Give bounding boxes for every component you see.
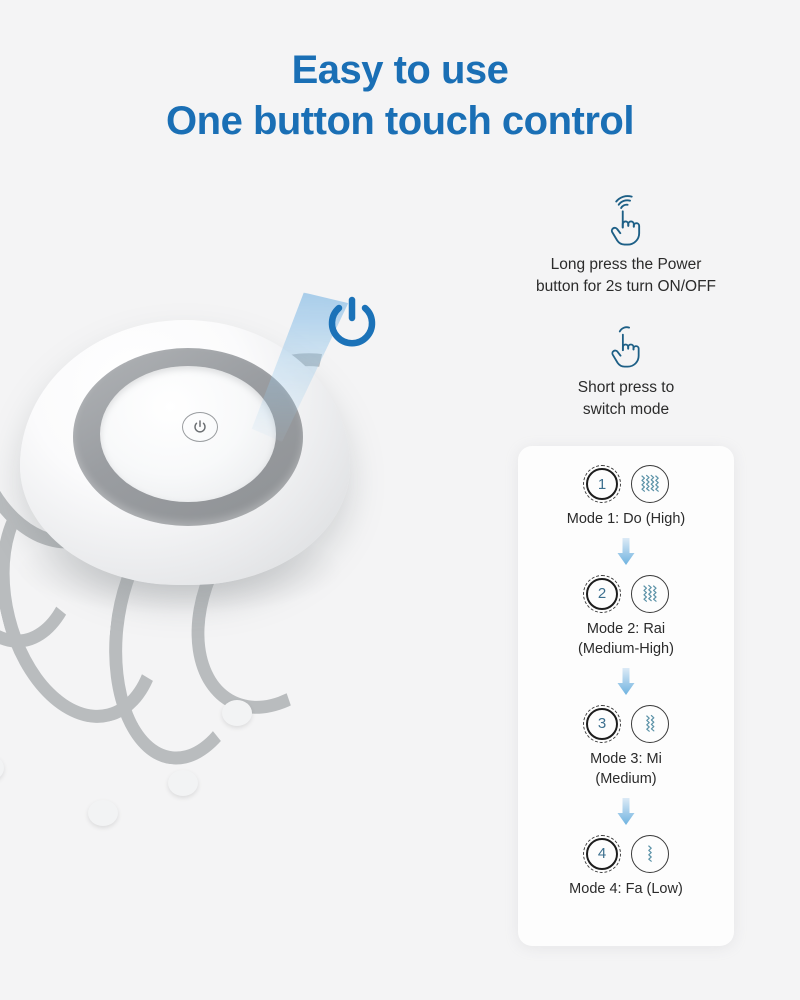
hand-short-press-icon [500, 315, 752, 373]
instruction-line1: Short press to [578, 379, 675, 396]
device-leg-tip [88, 800, 118, 826]
product-image [0, 300, 440, 900]
instruction-line2: button for 2s turn ON/OFF [536, 278, 716, 295]
mode-sequence-card: 1 Mode 1: Do (High) [518, 446, 734, 946]
mode-number: 3 [598, 715, 606, 732]
mode-item-3[interactable]: 3 Mode 3: Mi (Medium) [518, 702, 734, 790]
mode-item-4[interactable]: 4 Mode 4: Fa (Low) [518, 832, 734, 900]
instruction-text: Short press to switch mode [500, 377, 752, 422]
mode-number-icon: 3 [583, 705, 621, 743]
mode-label-line1: Mode 3: Mi [590, 751, 662, 767]
page-title-line1: Easy to use [0, 48, 800, 93]
vibration-intensity-icon [631, 835, 669, 873]
mode-label-line1: Mode 2: Rai [587, 621, 665, 637]
page-title-line2: One button touch control [0, 99, 800, 144]
instruction-long-press: Long press the Power button for 2s turn … [500, 192, 752, 299]
mode-number-icon: 1 [583, 465, 621, 503]
mode-label: Mode 1: Do (High) [518, 509, 734, 530]
instruction-line1: Long press the Power [551, 256, 702, 273]
mode-label-line1: Mode 4: Fa (Low) [569, 881, 683, 897]
mode-number: 4 [598, 845, 606, 862]
mode-icons: 2 [518, 572, 734, 616]
mode-item-2[interactable]: 2 Mode 2: Rai (Medium-High) [518, 572, 734, 660]
instruction-line2: switch mode [583, 401, 669, 418]
hand-long-press-icon [500, 192, 752, 250]
mode-icons: 4 [518, 832, 734, 876]
mode-label-line1: Mode 1: Do (High) [567, 511, 685, 527]
mode-label-line2: (Medium-High) [578, 641, 674, 657]
mode-icons: 3 [518, 702, 734, 746]
mode-item-1[interactable]: 1 Mode 1: Do (High) [518, 462, 734, 530]
mode-label: Mode 4: Fa (Low) [518, 879, 734, 900]
vibration-intensity-icon [631, 465, 669, 503]
device-leg-tip [168, 770, 198, 796]
mode-number: 2 [598, 585, 606, 602]
device-power-button[interactable] [182, 412, 218, 442]
vibration-intensity-icon [631, 705, 669, 743]
instruction-short-press: Short press to switch mode [500, 315, 752, 422]
instructions-list: Long press the Power button for 2s turn … [500, 192, 752, 438]
mode-label: Mode 3: Mi (Medium) [518, 749, 734, 790]
power-icon [320, 290, 384, 354]
mode-icons: 1 [518, 462, 734, 506]
vibration-intensity-icon [631, 575, 669, 613]
device-leg-tip [222, 700, 252, 726]
device-leg-tip [0, 755, 4, 781]
mode-label: Mode 2: Rai (Medium-High) [518, 619, 734, 660]
arrow-down-icon [518, 532, 734, 572]
mode-number-icon: 2 [583, 575, 621, 613]
page-title: Easy to use One button touch control [0, 48, 800, 144]
instruction-text: Long press the Power button for 2s turn … [500, 254, 752, 299]
mode-number: 1 [598, 476, 606, 493]
mode-number-icon: 4 [583, 835, 621, 873]
arrow-down-icon [518, 662, 734, 702]
mode-label-line2: (Medium) [595, 771, 656, 787]
arrow-down-icon [518, 792, 734, 832]
